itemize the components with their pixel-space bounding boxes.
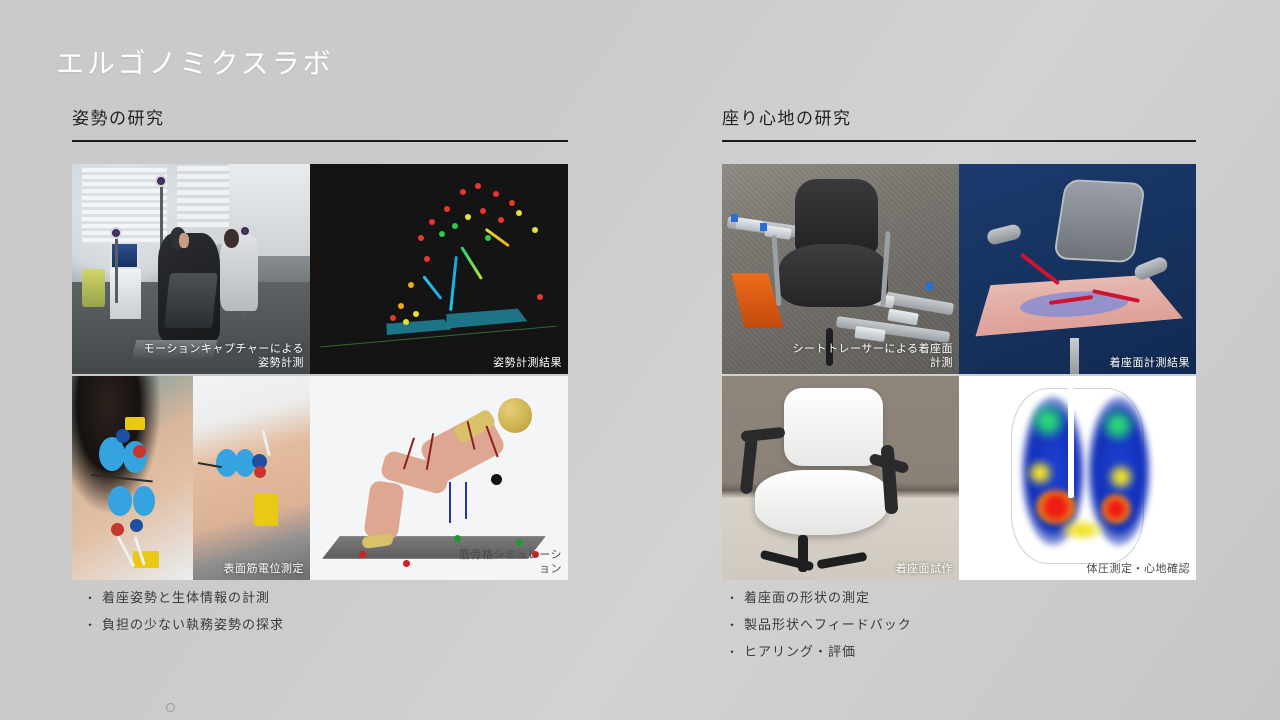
image-caption: 表面筋電位測定 (224, 562, 305, 576)
plot-point (465, 214, 471, 220)
side-chair-decor (82, 269, 106, 307)
column-posture-research: 姿勢の研究 (72, 104, 568, 142)
image-caption: シートトレーサーによる着座面計測 (787, 342, 953, 370)
electrode-connector-blue (130, 519, 143, 532)
plot-point (460, 189, 466, 195)
plot-point (498, 217, 504, 223)
column-sitting-comfort-research: 座り心地の研究 (722, 104, 1196, 142)
column-heading-posture: 姿勢の研究 (72, 104, 568, 135)
sensor-connector (731, 214, 738, 222)
heading-rule-right (722, 140, 1196, 142)
sim-force-vector (449, 482, 451, 523)
mocap-camera-icon-2 (155, 175, 167, 187)
cad-chair-column (1070, 338, 1079, 374)
list-item-label: 負担の少ない執務姿勢の探求 (102, 617, 284, 633)
researcher-head-decor (224, 229, 238, 248)
plot-point (475, 183, 481, 189)
cad-cylinder-left (986, 223, 1023, 246)
electrode-connector-red (254, 466, 266, 478)
image-caption: モーションキャプチャーによる姿勢計測 (134, 342, 304, 370)
list-item-label: 着座姿勢と生体情報の計測 (102, 590, 270, 606)
plot-floor-plane-right (446, 308, 527, 328)
electrode-pad (108, 486, 132, 516)
pressure-hotspot-yellow (1106, 462, 1136, 492)
sensor-connector (926, 282, 933, 290)
image-grid-posture-top: モーションキャプチャーによる姿勢計測 (72, 164, 568, 374)
page-title: エルゴノミクスラボ (56, 42, 334, 82)
plot-point (509, 200, 515, 206)
bullet-marker-icon: ・ (726, 590, 744, 606)
plot-point (398, 303, 404, 309)
emg-back-photo[interactable]: 表面筋電位測定 (193, 376, 310, 580)
sensor-connector (760, 223, 767, 231)
image-caption: 着座面試作 (896, 562, 954, 576)
plot-point (516, 210, 522, 216)
researcher-body-decor (220, 235, 258, 311)
electrode-wire (262, 430, 271, 456)
image-caption: 筋骨格シミュレーション (456, 548, 562, 576)
plot-point (493, 191, 499, 197)
bullet-marker-icon: ・ (726, 644, 744, 660)
motion-capture-photo[interactable]: モーションキャプチャーによる姿勢計測 (72, 164, 310, 374)
prototype-base-leg (816, 551, 867, 569)
pressure-map-center-gap (1068, 384, 1074, 498)
list-item: ・ 製品形状へフィードバック (726, 617, 912, 633)
pressure-hotspot-lower (1059, 519, 1105, 541)
image-grid-posture-bottom: 表面筋電位測定 筋骨格シミュレーション (72, 376, 568, 580)
sim-force-vector (465, 482, 467, 519)
plot-point (452, 223, 458, 229)
cad-profile-curve (1020, 253, 1060, 286)
chair-seat (779, 244, 888, 307)
posture-measurement-plot[interactable]: 姿勢計測結果 (310, 164, 568, 374)
bullet-marker-icon: ・ (84, 617, 102, 633)
column-heading-comfort: 座り心地の研究 (722, 104, 1196, 135)
plot-point (532, 227, 538, 233)
prototype-chair-photo[interactable]: 着座面試作 (722, 376, 959, 580)
plot-curve-green (460, 246, 483, 280)
plot-point (408, 282, 414, 288)
emg-neck-photo[interactable] (72, 376, 193, 580)
prototype-armrest-pad-left (740, 427, 785, 443)
electrode-connector-red (111, 523, 124, 536)
plot-point (424, 256, 430, 262)
slide-root: エルゴノミクスラボ 姿勢の研究 座り心地の研究 (0, 0, 1280, 720)
emg-amplifier-box (133, 551, 159, 568)
chair-backrest (795, 179, 878, 255)
prototype-backrest (784, 388, 884, 466)
emg-amplifier-box (125, 417, 145, 430)
list-item: ・ 着座姿勢と生体情報の計測 (84, 590, 284, 606)
list-item: ・ ヒアリング・評価 (726, 644, 912, 660)
plot-point (444, 206, 450, 212)
pressure-hotspot-yellow (1025, 458, 1055, 488)
sim-marker-point (403, 560, 410, 567)
plot-point (418, 235, 424, 241)
image-grid-comfort-top: シートトレーサーによる着座面計測 着座面計測結果 (722, 164, 1196, 374)
list-item-label: ヒアリング・評価 (744, 644, 856, 660)
plot-point (537, 294, 543, 300)
electrode-wire (91, 474, 153, 482)
plot-point (439, 231, 445, 237)
bullet-list-comfort: ・ 着座面の形状の測定 ・ 製品形状へフィードバック ・ ヒアリング・評価 (726, 590, 912, 671)
image-caption: 着座面計測結果 (1110, 356, 1191, 370)
sim-marker-point (491, 474, 502, 485)
pressure-distribution-map[interactable]: 体圧測定・心地確認 (959, 376, 1196, 580)
seat-rig-decor (164, 273, 217, 328)
electrode-connector-blue (116, 429, 130, 443)
bullet-marker-icon: ・ (726, 617, 744, 633)
subject-face-decor (179, 233, 189, 248)
plot-point (429, 219, 435, 225)
plot-floor-plane-left (387, 319, 452, 335)
heading-rule-left (72, 140, 568, 142)
list-item-label: 製品形状へフィードバック (744, 617, 912, 633)
list-item: ・ 着座面の形状の測定 (726, 590, 912, 606)
image-caption: 姿勢計測結果 (493, 356, 562, 370)
plot-curve-cyan-2 (423, 275, 443, 300)
plot-point (390, 315, 396, 321)
plot-point (480, 208, 486, 214)
window-blind-decor-2 (177, 166, 229, 229)
plot-curve-cyan (449, 256, 458, 311)
plot-point (485, 235, 491, 241)
plot-point (413, 311, 419, 317)
image-grid-comfort-bottom: 着座面試作 体圧測定・心地確認 (722, 376, 1196, 580)
bullet-list-posture: ・ 着座姿勢と生体情報の計測 ・ 負担の少ない執務姿勢の探求 (84, 590, 284, 644)
cad-backrest (1053, 179, 1146, 263)
sim-skull (498, 398, 532, 433)
emg-amplifier-box (254, 494, 278, 526)
prototype-armrest-left (740, 433, 758, 495)
pressure-hotspot-green (1101, 405, 1135, 445)
seat-surface-cad[interactable]: 着座面計測結果 (959, 164, 1196, 374)
mocap-camera-icon-1 (110, 227, 122, 239)
cad-cylinder-right (1133, 255, 1170, 282)
list-item: ・ 負担の少ない執務姿勢の探求 (84, 617, 284, 633)
list-item-label: 着座面の形状の測定 (744, 590, 870, 606)
image-caption: 体圧測定・心地確認 (1087, 562, 1191, 576)
prototype-seat (755, 470, 888, 535)
electrode-connector-red (133, 445, 146, 458)
musculoskeletal-simulation[interactable]: 筋骨格シミュレーション (310, 376, 568, 580)
seat-tracer-photo[interactable]: シートトレーサーによる着座面計測 (722, 164, 959, 374)
page-marker-icon (166, 703, 175, 712)
bullet-marker-icon: ・ (84, 590, 102, 606)
sim-shin (363, 480, 404, 541)
electrode-pad (133, 486, 155, 516)
